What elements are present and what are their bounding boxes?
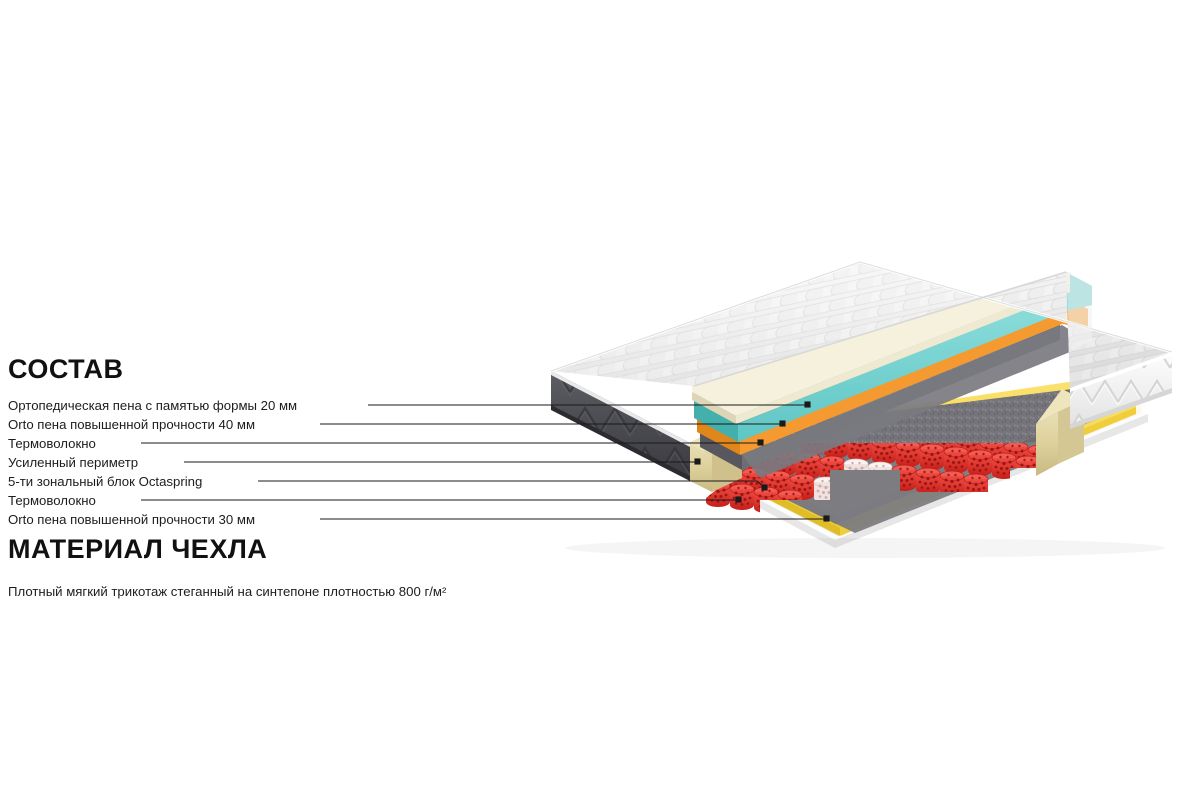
list-item: Orto пена повышенной прочности 30 мм xyxy=(8,510,528,529)
spec-label-memory-foam: Ортопедическая пена с памятью формы 20 м… xyxy=(8,396,297,415)
list-item: Ортопедическая пена с памятью формы 20 м… xyxy=(8,396,528,415)
spec-label-octaspring: 5-ти зональный блок Octaspring xyxy=(8,472,202,491)
side-panel-left xyxy=(551,371,690,481)
spec-label-orto-foam-bottom: Orto пена повышенной прочности 30 мм xyxy=(8,510,255,529)
list-item: Термоволокно xyxy=(8,434,528,453)
list-item: Термоволокно xyxy=(8,491,528,510)
illustration-page: СОСТАВ Ортопедическая пена с памятью фор… xyxy=(0,0,1191,794)
spec-label-thermo-fiber-bottom: Термоволокно xyxy=(8,491,96,510)
spec-label-orto-foam-top: Orto пена повышенной прочности 40 мм xyxy=(8,415,255,434)
cover-material-description: Плотный мягкий трикотаж стеганный на син… xyxy=(8,582,446,601)
spec-label-thermo-fiber-top: Термоволокно xyxy=(8,434,96,453)
list-item: 5-ти зональный блок Octaspring xyxy=(8,472,528,491)
spec-label-reinforced-perimeter: Усиленный периметр xyxy=(8,453,138,472)
composition-heading: СОСТАВ xyxy=(8,356,123,383)
composition-list: Ортопедическая пена с памятью формы 20 м… xyxy=(8,396,528,529)
list-item: Orto пена повышенной прочности 40 мм xyxy=(8,415,528,434)
list-item: Усиленный периметр xyxy=(8,453,528,472)
cover-material-heading: МАТЕРИАЛ ЧЕХЛА xyxy=(8,536,267,563)
